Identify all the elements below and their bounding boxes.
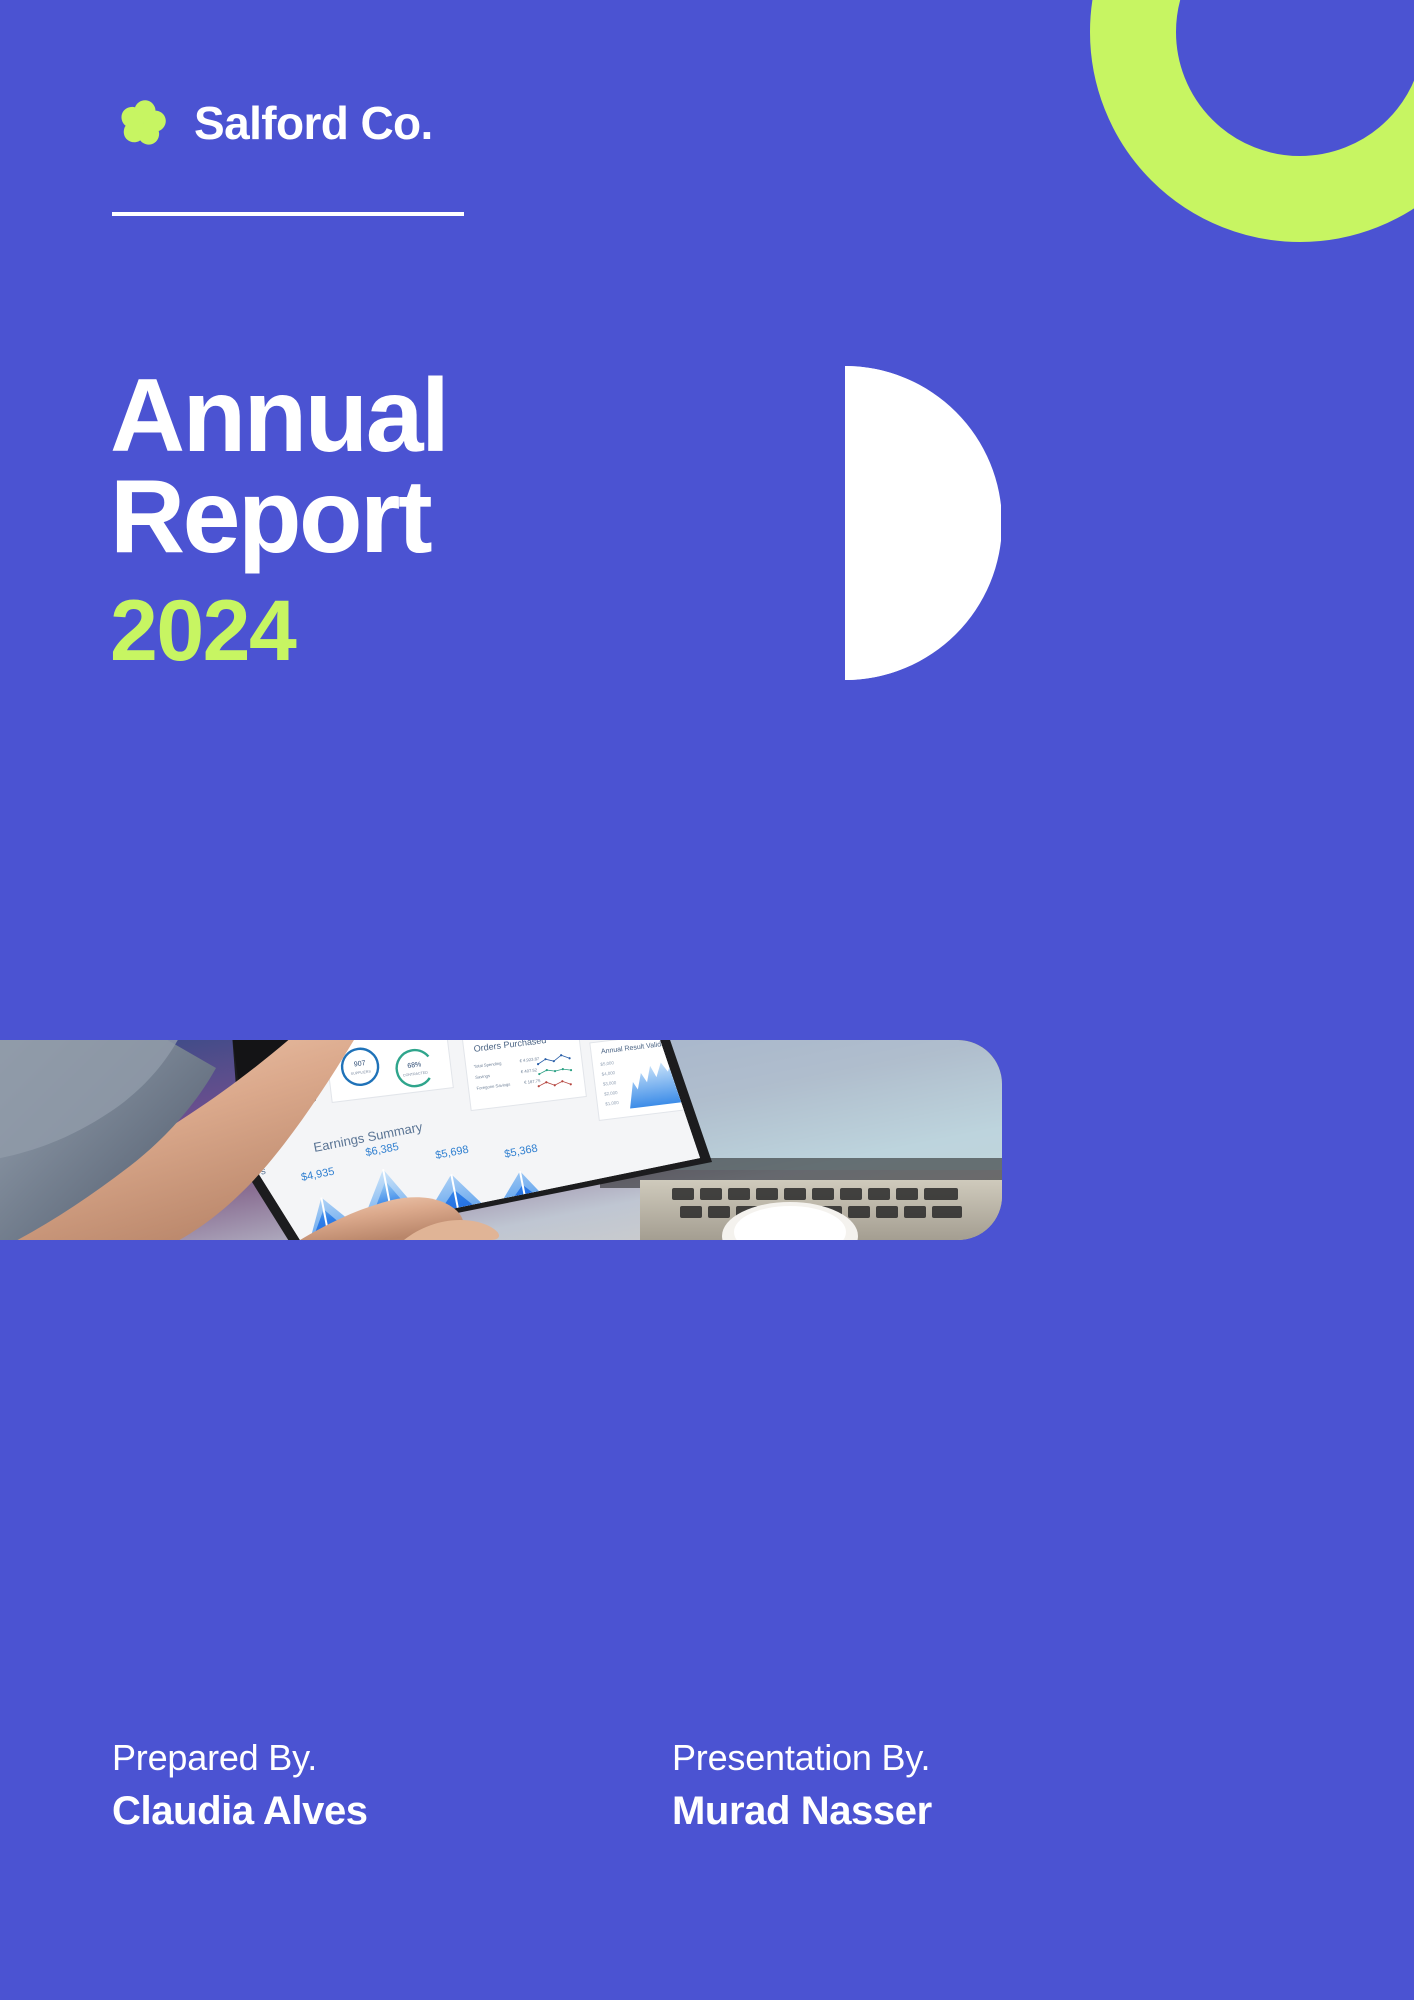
- credits-row: Prepared By. Claudia Alves Presentation …: [112, 1735, 1302, 1836]
- page-title: Annual Report 2024: [110, 366, 870, 676]
- pinwheel-logo-icon: [112, 92, 174, 154]
- credit-presentation-by: Presentation By. Murad Nasser: [672, 1735, 1232, 1836]
- brand-name: Salford Co.: [194, 100, 433, 146]
- brand-logo: Salford Co.: [112, 92, 433, 154]
- presentation-by-name: Murad Nasser: [672, 1786, 1232, 1836]
- credit-prepared-by: Prepared By. Claudia Alves: [112, 1735, 672, 1836]
- quarter-ring-shape: [1090, 0, 1414, 242]
- presentation-by-label: Presentation By.: [672, 1735, 1232, 1780]
- horizontal-rule: [112, 212, 464, 216]
- prepared-by-name: Claudia Alves: [112, 1786, 672, 1836]
- prepared-by-label: Prepared By.: [112, 1735, 672, 1780]
- title-year: 2024: [110, 586, 870, 676]
- title-line-1: Annual: [110, 366, 870, 467]
- title-line-2: Report: [110, 467, 870, 568]
- svg-text:907: 907: [354, 1060, 367, 1068]
- cover-photo: 907 SUPPLIERS 68% CONTRACTED Orders Purc…: [0, 1040, 1002, 1240]
